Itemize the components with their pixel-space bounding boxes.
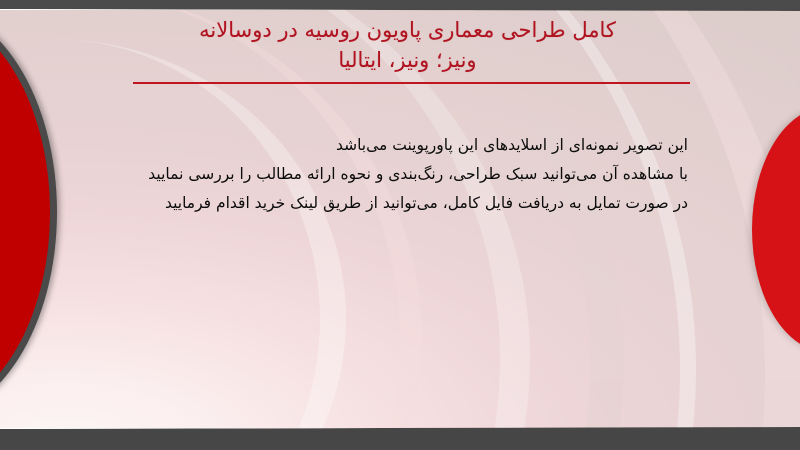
body-line-1: این تصویر نمونه‌ای از اسلایدهای این پاور… [88, 131, 688, 160]
slide-body-text: این تصویر نمونه‌ای از اسلایدهای این پاور… [88, 131, 688, 218]
red-oval-right [752, 107, 800, 352]
title-line-2: ونیز؛ ونیز، ایتالیا [120, 45, 695, 75]
slide-title: کامل طراحی معماری پاویون روسیه در دوسالا… [120, 15, 695, 75]
title-line-1: کامل طراحی معماری پاویون روسیه در دوسالا… [120, 15, 695, 45]
body-line-3: در صورت تمایل به دریافت فایل کامل، می‌تو… [88, 189, 688, 218]
title-underline [133, 82, 690, 84]
presentation-slide: کامل طراحی معماری پاویون روسیه در دوسالا… [0, 0, 800, 450]
slide-content-panel: کامل طراحی معماری پاویون روسیه در دوسالا… [0, 9, 800, 429]
body-line-2: با مشاهده آن می‌توانید سبک طراحی، رنگ‌بن… [88, 160, 688, 189]
